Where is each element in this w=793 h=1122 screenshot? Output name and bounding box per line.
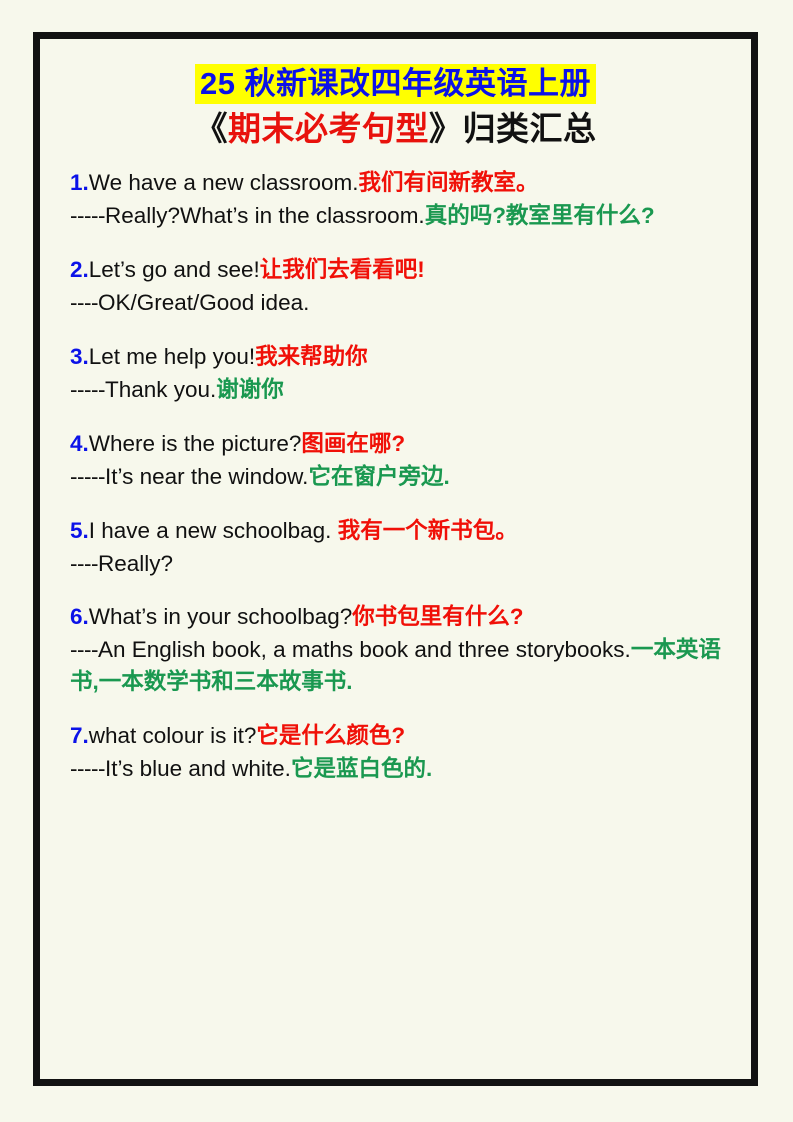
question-line: 2.Let’s go and see!让我们去看看吧! — [70, 254, 721, 286]
answer-line: ----OK/Great/Good idea. — [70, 287, 721, 319]
question-chinese: 你书包里有什么? — [352, 604, 523, 629]
item-number: 2. — [70, 257, 89, 282]
answer-english: OK/Great/Good idea. — [98, 290, 309, 315]
question-english: what colour is it? — [89, 723, 257, 748]
item-number: 5. — [70, 518, 89, 543]
answer-line: -----It’s near the window.它在窗户旁边. — [70, 461, 721, 493]
question-english: Let me help you! — [89, 344, 255, 369]
worksheet-page: 25 秋新课改四年级英语上册 《期末必考句型》归类汇总 1.We have a … — [0, 0, 793, 1122]
question-chinese: 我们有间新教室。 — [358, 170, 538, 195]
answer-english: It’s blue and white. — [105, 756, 291, 781]
question-english: We have a new classroom. — [89, 170, 359, 195]
question-chinese: 图画在哪? — [301, 431, 405, 456]
document-title: 25 秋新课改四年级英语上册 《期末必考句型》归类汇总 — [70, 65, 721, 149]
item-number: 3. — [70, 344, 89, 369]
question-line: 3.Let me help you!我来帮助你 — [70, 341, 721, 373]
item-number: 7. — [70, 723, 89, 748]
list-item: 2.Let’s go and see!让我们去看看吧! ----OK/Great… — [70, 254, 721, 319]
answer-dash: ----- — [70, 203, 105, 228]
page-border-frame: 25 秋新课改四年级英语上册 《期末必考句型》归类汇总 1.We have a … — [33, 32, 758, 1086]
question-line: 4.Where is the picture?图画在哪? — [70, 428, 721, 460]
answer-line: -----Thank you.谢谢你 — [70, 374, 721, 406]
question-chinese: 它是什么颜色? — [256, 723, 405, 748]
answer-line: ----Really? — [70, 548, 721, 580]
list-item: 6.What’s in your schoolbag?你书包里有什么? ----… — [70, 601, 721, 698]
question-line: 1.We have a new classroom.我们有间新教室。 — [70, 167, 721, 199]
item-number: 1. — [70, 170, 89, 195]
answer-chinese: 真的吗?教室里有什么? — [425, 203, 655, 228]
answer-dash: ---- — [70, 290, 98, 315]
title-emphasis-text: 期末必考句型 — [228, 110, 429, 147]
question-english: Let’s go and see! — [89, 257, 260, 282]
list-item: 4.Where is the picture?图画在哪? -----It’s n… — [70, 428, 721, 493]
question-chinese: 我来帮助你 — [255, 344, 368, 369]
question-english: Where is the picture? — [89, 431, 302, 456]
item-number: 6. — [70, 604, 89, 629]
question-line: 5.I have a new schoolbag. 我有一个新书包。 — [70, 515, 721, 547]
question-english: What’s in your schoolbag? — [89, 604, 353, 629]
answer-english: Thank you. — [105, 377, 216, 402]
question-line: 7.what colour is it?它是什么颜色? — [70, 720, 721, 752]
answer-dash: ----- — [70, 756, 105, 781]
answer-dash: ---- — [70, 551, 98, 576]
answer-line: -----It’s blue and white.它是蓝白色的. — [70, 753, 721, 785]
answer-chinese: 它是蓝白色的. — [291, 756, 432, 781]
sentence-pattern-list: 1.We have a new classroom.我们有间新教室。 -----… — [70, 167, 721, 785]
answer-english: Really?What’s in the classroom. — [105, 203, 425, 228]
title-bracket-close: 》归类汇总 — [429, 110, 597, 147]
title-bracket-open: 《 — [195, 110, 229, 147]
answer-english: Really? — [98, 551, 173, 576]
answer-dash: ----- — [70, 377, 105, 402]
answer-line: -----Really?What’s in the classroom.真的吗?… — [70, 200, 721, 232]
question-chinese: 让我们去看看吧! — [260, 257, 425, 282]
item-number: 4. — [70, 431, 89, 456]
answer-chinese: 它在窗户旁边. — [308, 464, 449, 489]
answer-english: An English book, a maths book and three … — [98, 637, 631, 662]
list-item: 3.Let me help you!我来帮助你 -----Thank you.谢… — [70, 341, 721, 406]
answer-dash: ----- — [70, 464, 105, 489]
list-item: 1.We have a new classroom.我们有间新教室。 -----… — [70, 167, 721, 232]
answer-chinese: 谢谢你 — [216, 377, 284, 402]
question-english: I have a new schoolbag. — [89, 518, 338, 543]
answer-dash: ---- — [70, 637, 98, 662]
title-highlight-text: 25 秋新课改四年级英语上册 — [195, 64, 596, 104]
page-content: 25 秋新课改四年级英语上册 《期末必考句型》归类汇总 1.We have a … — [40, 39, 751, 1079]
question-chinese: 我有一个新书包。 — [338, 518, 518, 543]
answer-english: It’s near the window. — [105, 464, 308, 489]
list-item: 5.I have a new schoolbag. 我有一个新书包。 ----R… — [70, 515, 721, 580]
title-line-secondary: 《期末必考句型》归类汇总 — [70, 109, 721, 149]
question-line: 6.What’s in your schoolbag?你书包里有什么? — [70, 601, 721, 633]
title-line-primary: 25 秋新课改四年级英语上册 — [70, 65, 721, 103]
answer-line: ----An English book, a maths book and th… — [70, 634, 721, 698]
list-item: 7.what colour is it?它是什么颜色? -----It’s bl… — [70, 720, 721, 785]
